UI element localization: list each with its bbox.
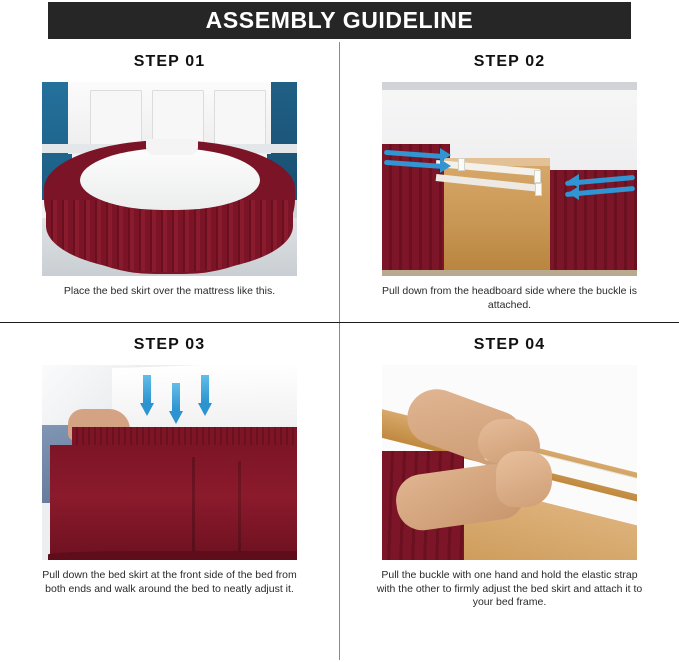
header-banner: ASSEMBLY GUIDELINE: [48, 2, 631, 39]
bed-skirt: [50, 445, 297, 560]
step-caption-02: Pull down from the headboard side where …: [376, 285, 644, 312]
step-photo-04: [382, 365, 637, 560]
step-photo-01: [42, 82, 297, 276]
headboard-panel-left: [90, 90, 142, 148]
buckle-right-upper: [534, 170, 541, 183]
step-title-03: STEP 03: [0, 336, 339, 354]
step-panel-01: STEP 01 Place the bed skirt over the mat…: [0, 42, 339, 322]
step-title-04: STEP 04: [340, 336, 679, 354]
headboard-panel-right: [214, 90, 266, 148]
arrow-right-icon-lower-left: [440, 159, 451, 173]
buckle-left: [458, 158, 465, 171]
wall-top-edge: [382, 82, 637, 90]
bed-skirt-right: [547, 170, 637, 270]
arrow-down-icon-3: [198, 375, 212, 416]
buckle-right-lower: [535, 183, 542, 196]
arrow-down-icon-2: [169, 383, 183, 424]
mattress-top: [80, 148, 260, 210]
step-caption-03: Pull down the bed skirt at the front sid…: [36, 569, 304, 596]
step-panel-02: STEP 02 Pull down from the headboard sid…: [340, 42, 679, 322]
arrow-down-icon-1: [140, 375, 154, 416]
step-title-02: STEP 02: [340, 53, 679, 71]
skirt-fold-2: [238, 461, 241, 556]
step-panel-03: STEP 03 Pull do: [0, 325, 339, 662]
mattress-notch: [146, 139, 198, 155]
step-photo-03: [42, 365, 297, 560]
step-caption-01: Place the bed skirt over the mattress li…: [36, 285, 304, 299]
page-title: ASSEMBLY GUIDELINE: [206, 7, 474, 34]
down-arrow-group: [140, 375, 212, 427]
step-caption-04: Pull the buckle with one hand and hold t…: [376, 569, 644, 610]
step-title-01: STEP 01: [0, 53, 339, 71]
hand-lower: [496, 451, 552, 507]
step-panel-04: STEP 04 Pull the buckle with one hand an…: [340, 325, 679, 662]
arrow-left-icon-lower-right: [568, 186, 579, 200]
step-photo-02: [382, 82, 637, 276]
assembly-guideline-infographic: ASSEMBLY GUIDELINE STEP 01 Place the bed…: [0, 0, 679, 662]
skirt-hem: [48, 551, 297, 560]
horizontal-divider: [0, 322, 679, 323]
skirt-fold-1: [192, 457, 195, 556]
